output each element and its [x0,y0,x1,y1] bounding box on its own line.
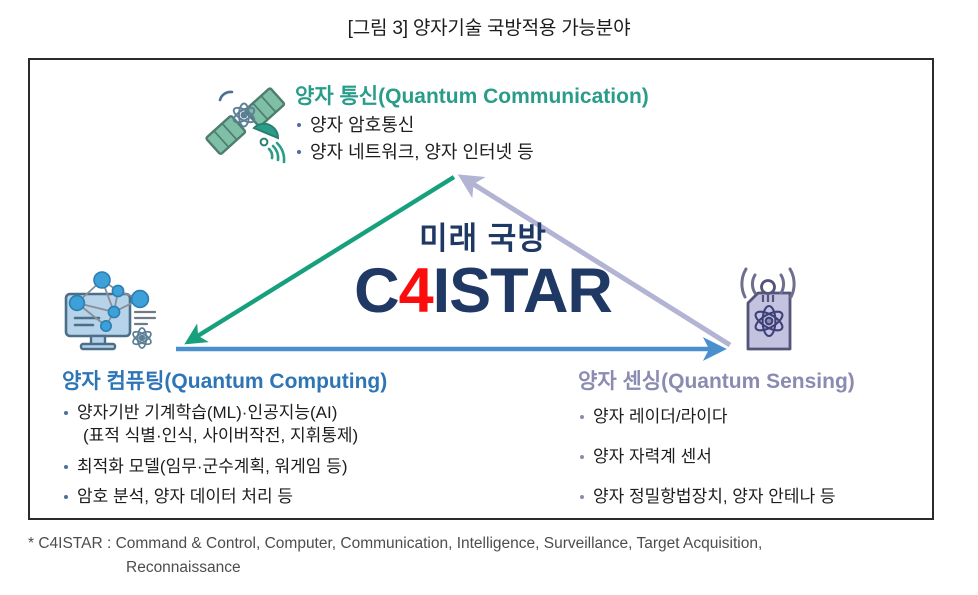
list-item: 양자 암호통신 [295,114,649,137]
section-heading-computing: 양자 컴퓨팅(Quantum Computing) [62,365,387,395]
bullet-text: 최적화 모델(임무·군수계획, 워게임 등) [77,457,347,476]
bullet-text: 암호 분석, 양자 데이터 처리 등 [77,487,293,506]
bullet-subtext: (표적 식별·인식, 사이버작전, 지휘통제) [77,425,387,447]
list-item: 양자기반 기계학습(ML)·인공지능(AI) (표적 식별·인식, 사이버작전,… [62,402,387,447]
footnote-line-1: * C4ISTAR : Command & Control, Computer,… [28,535,762,552]
list-item: 양자 레이더/라이다 [578,406,855,428]
section-quantum-communication: 양자 통신(Quantum Communication) 양자 암호통신 양자 … [295,80,649,168]
list-item: 최적화 모델(임무·군수계획, 워게임 등) [62,456,387,478]
bullet-text: 양자 네트워크, 양자 인터넷 등 [310,142,534,162]
acronym-digit: 4 [399,256,433,326]
arrow-communication-to-computing [188,177,454,342]
computer-network-icon [56,260,160,363]
list-item: 양자 정밀항법장치, 양자 안테나 등 [578,486,855,508]
bullet-text: 양자기반 기계학습(ML)·인공지능(AI) [77,403,337,422]
bullet-text: 양자 자력계 센서 [593,447,712,466]
sensor-antenna-icon [722,263,814,366]
bullet-list-computing: 양자기반 기계학습(ML)·인공지능(AI) (표적 식별·인식, 사이버작전,… [62,402,387,508]
list-item: 암호 분석, 양자 데이터 처리 등 [62,486,387,508]
arrow-sensing-to-communication [462,177,730,345]
bullet-list-communication: 양자 암호통신 양자 네트워크, 양자 인터넷 등 [295,114,649,164]
section-heading-communication: 양자 통신(Quantum Communication) [295,80,649,110]
page-title: [그림 3] 양자기술 국방적용 가능분야 [0,13,978,40]
bullet-text: 양자 레이더/라이다 [593,407,728,426]
bullet-text: 양자 암호통신 [310,115,414,135]
list-item: 양자 자력계 센서 [578,446,855,468]
center-wordmark: 미래 국방 C4ISTAR [283,223,683,324]
footnote: * C4ISTAR : Command & Control, Computer,… [28,532,948,580]
bullet-list-sensing: 양자 레이더/라이다 양자 자력계 센서 양자 정밀항법장치, 양자 안테나 등 [578,406,855,507]
section-quantum-computing: 양자 컴퓨팅(Quantum Computing) 양자기반 기계학습(ML)·… [62,365,387,517]
acronym-part-2: ISTAR [433,256,612,326]
bullet-text: 양자 정밀항법장치, 양자 안테나 등 [593,487,836,506]
satellite-icon [198,78,294,175]
section-quantum-sensing: 양자 센싱(Quantum Sensing) 양자 레이더/라이다 양자 자력계… [578,365,855,525]
center-subtitle: 미래 국방 [283,223,683,256]
list-item: 양자 네트워크, 양자 인터넷 등 [295,141,649,164]
diagram-container: 미래 국방 C4ISTAR [28,58,934,520]
section-heading-sensing: 양자 센싱(Quantum Sensing) [578,365,855,395]
acronym-part-1: C [354,256,399,326]
center-acronym: C4ISTAR [283,258,683,324]
footnote-line-2: Reconnaissance [28,556,948,580]
